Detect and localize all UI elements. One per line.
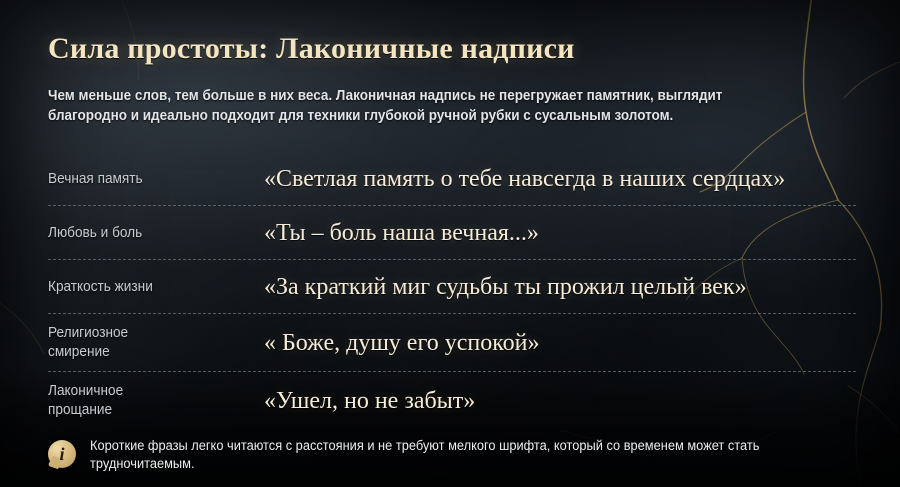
row-quote: « Боже, душу его успокой»: [264, 328, 856, 358]
row-label: Религиозное смирение: [48, 324, 251, 362]
table-row: Любовь и боль «Ты – боль наша вечная...»: [48, 206, 856, 260]
slide-content: Сила простоты: Лаконичные надписи Чем ме…: [0, 0, 900, 487]
row-quote: «За краткий миг судьбы ты прожил целый в…: [264, 272, 856, 302]
row-quote: «Ушел, но не забыт»: [264, 386, 856, 416]
row-label: Лаконичное прощание: [48, 382, 251, 420]
row-label: Вечная память: [48, 170, 251, 189]
row-label: Краткость жизни: [48, 278, 251, 297]
footer-note: i Короткие фразы легко читаются с рассто…: [48, 437, 868, 473]
info-icon-glyph: i: [48, 440, 76, 468]
info-icon: i: [48, 440, 76, 468]
phrases-table: Вечная память «Светлая память о тебе нав…: [48, 152, 856, 430]
row-quote: «Ты – боль наша вечная...»: [264, 218, 856, 248]
table-row: Лаконичное прощание «Ушел, но не забыт»: [48, 372, 856, 430]
table-row: Религиозное смирение « Боже, душу его ус…: [48, 314, 856, 372]
row-quote: «Светлая память о тебе навсегда в наших …: [264, 164, 856, 194]
table-row: Вечная память «Светлая память о тебе нав…: [48, 152, 856, 206]
row-label: Любовь и боль: [48, 224, 251, 243]
slide-root: Сила простоты: Лаконичные надписи Чем ме…: [0, 0, 900, 487]
page-subtitle: Чем меньше слов, тем больше в них веса. …: [48, 86, 783, 126]
footer-text: Короткие фразы легко читаются с расстоян…: [90, 437, 829, 473]
page-title: Сила простоты: Лаконичные надписи: [48, 32, 575, 66]
table-row: Краткость жизни «За краткий миг судьбы т…: [48, 260, 856, 314]
